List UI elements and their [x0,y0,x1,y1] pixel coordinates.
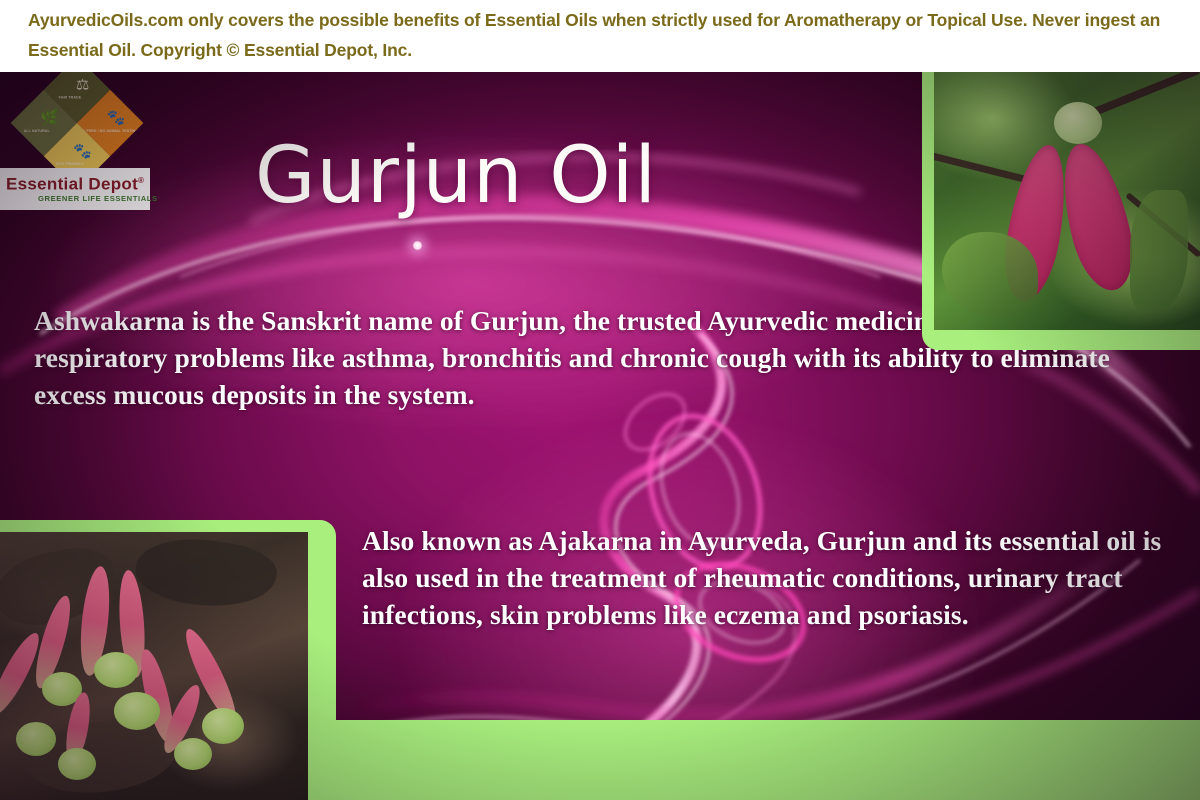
seedling-head [202,708,244,744]
paw-print-icon: 🐾 [106,110,125,125]
paragraph-two: Also known as Ajakarna in Ayurveda, Gurj… [362,522,1172,633]
diamond-quadrant-caption: ECO FRIENDLY [56,162,84,166]
brand-logo[interactable]: ⚖ FAIR TRADE 🐾 CRUELTY FREE / NO ANIMAL … [0,72,152,212]
leaf-icon: 🌿 [40,110,59,125]
seedling-head [94,652,138,688]
photo-frame-top-right [922,72,1200,350]
registered-mark-icon: ® [138,176,144,185]
leaf-shape [1130,190,1188,310]
seedling-head [16,722,56,756]
logo-brand-name: Essential Depot® [6,172,146,194]
diamond-quadrant-caption: ALL NATURAL [23,128,49,132]
seedling-head [174,738,212,770]
animal-icon: 🐾 [73,143,92,158]
seed-capsule [1054,102,1102,144]
logo-brand-text: Essential Depot [6,175,138,194]
page-title: Gurjun Oil [255,130,895,222]
disclaimer-banner: AyurvedicOils.com only covers the possib… [0,0,1200,72]
logo-wordmark-plate: Essential Depot® GREENER LIFE ESSENTIALS [0,168,150,210]
logo-tagline: GREENER LIFE ESSENTIALS [6,194,146,204]
bottom-green-bar [322,720,1200,800]
poster-stage: ⚖ FAIR TRADE 🐾 CRUELTY FREE / NO ANIMAL … [0,72,1200,800]
diamond-quadrant-caption: FAIR TRADE [58,95,81,99]
sparkle-highlight [412,240,423,251]
infographic-poster: AyurvedicOils.com only covers the possib… [0,0,1200,800]
photo-gurjun-seed-pod [934,72,1200,330]
seedling-head [114,692,160,730]
photo-gurjun-seedlings [0,532,308,800]
photo-frame-bottom-left [0,520,336,800]
scales-icon: ⚖ [76,77,89,92]
seedling-head [58,748,96,780]
